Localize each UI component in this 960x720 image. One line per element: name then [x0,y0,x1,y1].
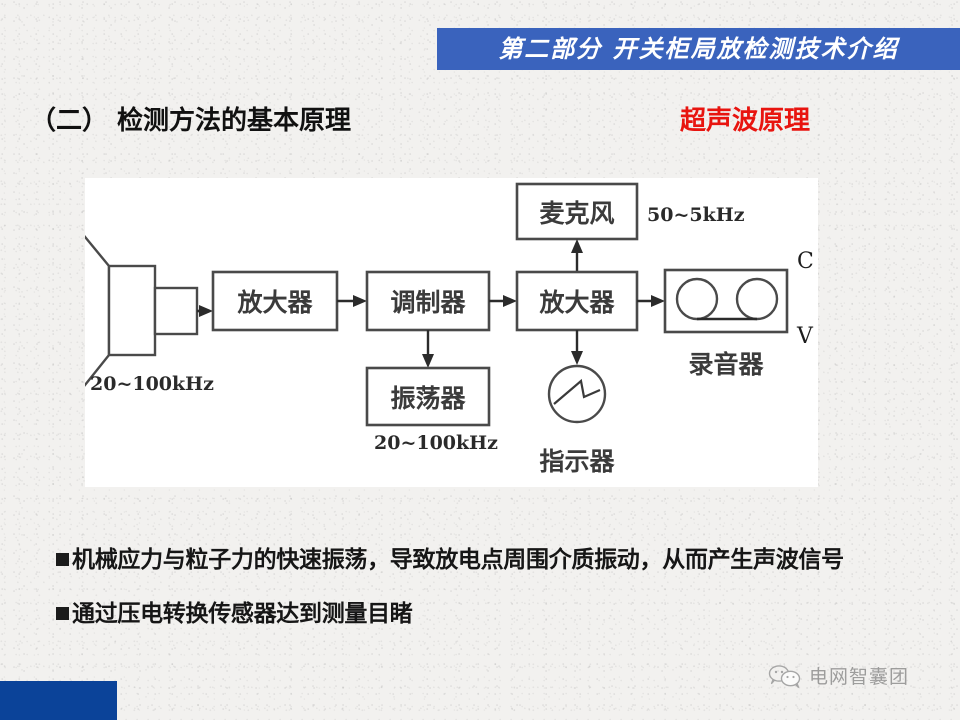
box-amplifier-1-label: 放大器 [236,288,313,317]
arrow-amp2-to-microphone [571,239,583,272]
indicator-caption: 指示器 [539,447,615,476]
method-highlight-label: 超声波原理 [680,101,810,141]
bullet-text: 通过压电转换传感器达到测量目睹 [72,599,413,629]
box-recorder [665,270,787,332]
box-amplifier-2-label: 放大器 [538,288,615,317]
footer-accent-bar [0,681,117,720]
watermark-label: 电网智囊团 [809,662,909,689]
arrow-modulator-to-oscillator [422,330,434,368]
block-diagram-svg: 20~100kHz 放大器 调制器 [85,178,818,487]
bullet-square-icon [56,607,69,620]
speaker-horn-icon [85,232,197,390]
box-oscillator-label: 振荡器 [390,384,466,413]
box-microphone-label: 麦克风 [539,199,614,228]
bullet-square-icon [56,553,69,566]
bullet-item: 通过压电转换传感器达到测量目睹 [56,599,936,629]
box-amplifier-1: 放大器 [213,272,337,330]
arrow-amp2-to-indicator [571,330,583,365]
box-modulator-label: 调制器 [390,288,466,317]
oscillator-frequency-label: 20~100kHz [374,432,498,454]
arrow-amp2-to-recorder [637,295,665,307]
recorder-caption: 录音器 [688,350,764,379]
header-banner: 第二部分 开关柜局放检测技术介绍 [437,28,960,70]
indicator-meter-icon [549,366,605,422]
bullet-list: 机械应力与粒子力的快速振荡，导致放电点周围介质振动，从而产生声波信号 通过压电转… [56,545,936,653]
box-modulator: 调制器 [367,272,489,330]
title-row: （二） 检测方法的基本原理 超声波原理 [30,101,900,141]
block-diagram-panel: 20~100kHz 放大器 调制器 [85,178,818,487]
header-banner-text: 第二部分 开关柜局放检测技术介绍 [498,37,898,61]
box-oscillator: 振荡器 [367,368,489,425]
watermark: 电网智囊团 [768,662,909,689]
letter-c-label: C [797,249,814,274]
bullet-text: 机械应力与粒子力的快速振荡，导致放电点周围介质振动，从而产生声波信号 [72,545,844,575]
page-title: （二） 检测方法的基本原理 [30,101,351,141]
slide-canvas: 第二部分 开关柜局放检测技术介绍 （二） 检测方法的基本原理 超声波原理 20~… [0,0,960,720]
arrow-modulator-to-amp2 [489,295,517,307]
arrow-amp1-to-modulator [337,295,367,307]
microphone-frequency-label: 50~5kHz [647,204,745,226]
bullet-item: 机械应力与粒子力的快速振荡，导致放电点周围介质振动，从而产生声波信号 [56,545,936,575]
wechat-icon [768,664,802,688]
source-frequency-label: 20~100kHz [90,373,214,395]
box-microphone: 麦克风 [517,184,637,239]
box-amplifier-2: 放大器 [517,272,637,330]
letter-v-label: V [796,324,814,349]
arrow-speaker-to-amp1 [197,305,213,317]
